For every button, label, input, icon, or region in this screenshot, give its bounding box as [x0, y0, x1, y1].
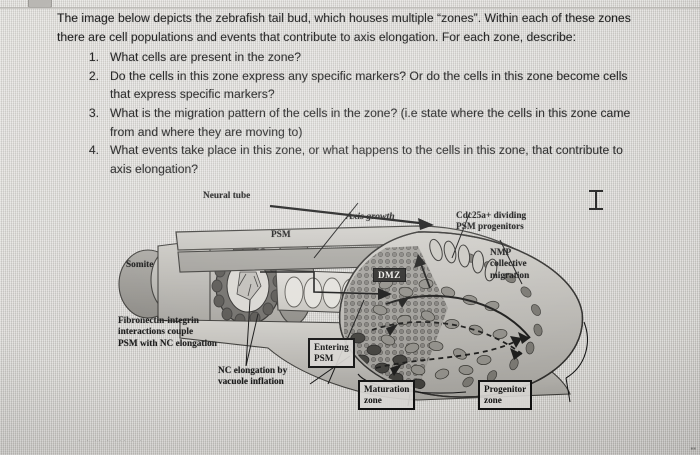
label-cdc25a-dividing-psm-progenitors: Cdc25a+ dividing PSM progenitors — [456, 211, 526, 234]
question-text: What is the migration pattern of the cel… — [110, 106, 630, 139]
label-somite: Somite — [126, 260, 153, 271]
question-item: 2. Do the cells in this zone express any… — [79, 67, 647, 104]
label-nc-elongation-vacuole: NC elongation by vacuole inflation — [218, 366, 287, 389]
box-progenitor-zone: Progenitor zone — [478, 380, 532, 410]
question-list: 1. What cells are present in the zone? 2… — [57, 48, 647, 178]
question-number: 3. — [79, 104, 99, 123]
label-fibronectin-integrin: Fibronectin-integrin interactions couple… — [118, 316, 217, 350]
photo-corner-smudge: ▪▪ — [690, 444, 696, 453]
question-item: 4. What events take place in this zone, … — [79, 141, 647, 178]
question-number: 4. — [79, 141, 99, 160]
question-item: 3. What is the migration pattern of the … — [79, 104, 647, 141]
box-entering-psm: Entering PSM — [308, 338, 355, 368]
question-number: 2. — [79, 67, 99, 86]
question-document: The image below depicts the zebrafish ta… — [57, 9, 647, 178]
question-text: What events take place in this zone, or … — [110, 143, 623, 176]
question-item: 1. What cells are present in the zone? — [79, 48, 647, 67]
label-nmp-collective-migration: NMP collective migration — [490, 248, 529, 282]
label-axis-growth: Axis growth — [346, 211, 395, 222]
zebrafish-tailbud-figure: Neural tube PSM Somite Axis growth Cdc25… — [118, 188, 618, 420]
label-psm: PSM — [271, 230, 291, 241]
box-dmz: DMZ — [373, 268, 406, 282]
screen-photo: The image below depicts the zebrafish ta… — [0, 0, 700, 455]
label-neural-tube: Neural tube — [203, 191, 250, 202]
question-text: Do the cells in this zone express any sp… — [110, 69, 628, 102]
question-text: What cells are present in the zone? — [110, 50, 301, 64]
intro-paragraph: The image below depicts the zebrafish ta… — [57, 9, 647, 46]
photo-bottom-smudge: · · ·· · ··· · · — [78, 437, 278, 445]
tail-bud-mass — [340, 232, 583, 397]
question-number: 1. — [79, 48, 99, 67]
box-maturation-zone: Maturation zone — [358, 380, 415, 410]
